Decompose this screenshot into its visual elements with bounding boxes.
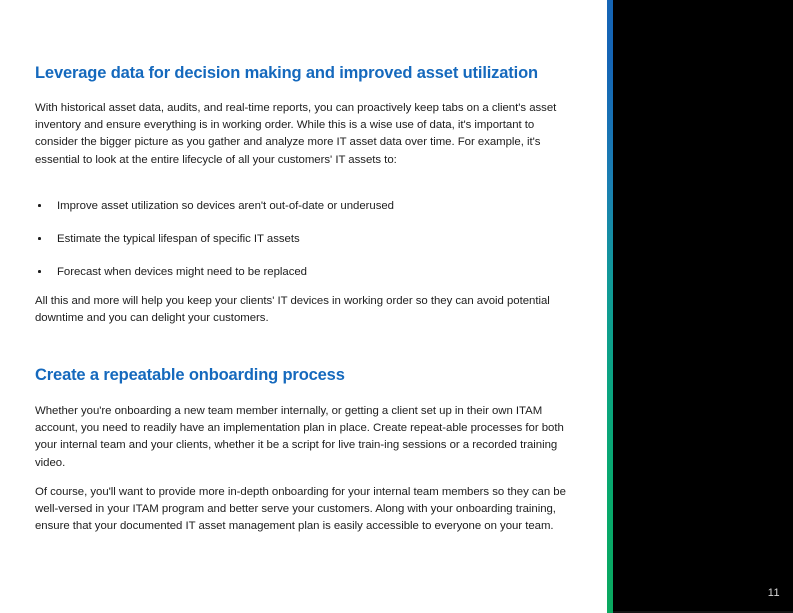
list-item: Forecast when devices might need to be r… (35, 264, 575, 281)
bullet-dot-icon (38, 270, 41, 273)
list-item: Improve asset utilization so devices are… (35, 198, 575, 215)
paragraph-onboarding-second: Of course, you'll want to provide more i… (35, 484, 575, 536)
list-item-label: Forecast when devices might need to be r… (57, 266, 307, 278)
bullet-dot-icon (38, 204, 41, 207)
page-number: 11 (768, 587, 780, 599)
section-heading-leverage-data: Leverage data for decision making and im… (35, 64, 595, 84)
paragraph-leverage-data-closing: All this and more will help you keep you… (35, 293, 565, 327)
list-item-label: Improve asset utilization so devices are… (57, 200, 394, 212)
bullet-dot-icon (38, 237, 41, 240)
paragraph-onboarding-first: Whether you're onboarding a new team mem… (35, 403, 571, 472)
section-heading-onboarding-process: Create a repeatable onboarding process (35, 366, 595, 386)
paragraph-leverage-data-intro: With historical asset data, audits, and … (35, 100, 575, 169)
dark-side-panel (613, 0, 793, 613)
list-item-label: Estimate the typical lifespan of specifi… (57, 233, 300, 245)
bullet-list-asset-lifecycle: Improve asset utilization so devices are… (35, 198, 575, 297)
document-page: Leverage data for decision making and im… (0, 0, 793, 613)
list-item: Estimate the typical lifespan of specifi… (35, 231, 575, 248)
